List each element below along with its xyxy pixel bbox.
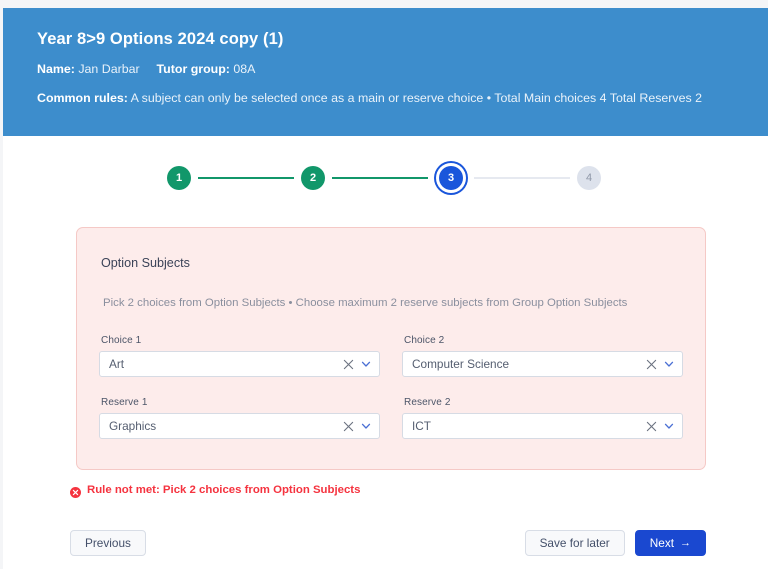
tutor-group-label: Tutor group: <box>157 62 230 76</box>
select-value-reserve-1: Graphics <box>109 419 339 433</box>
clear-icon-reserve-1[interactable] <box>339 417 357 435</box>
common-rules-label: Common rules: <box>37 91 128 105</box>
field-label-choice-2: Choice 2 <box>404 335 683 346</box>
validation-message-row: Rule not met: Pick 2 choices from Option… <box>70 484 360 496</box>
field-label-reserve-2: Reserve 2 <box>404 397 683 408</box>
next-button[interactable]: Next → <box>635 530 706 556</box>
option-card-subtitle: Pick 2 choices from Option Subjects • Ch… <box>103 297 683 309</box>
field-reserve-2: Reserve 2 ICT <box>402 397 683 439</box>
stepper-step-1[interactable]: 1 <box>167 166 191 190</box>
common-rules-value: A subject can only be selected once as a… <box>131 91 702 105</box>
page-header: Year 8>9 Options 2024 copy (1) Name: Jan… <box>3 8 768 136</box>
footer-right-actions: Save for later Next → <box>525 530 706 556</box>
error-circle-x-icon <box>70 485 81 496</box>
common-rules-line: Common rules: A subject can only be sele… <box>37 90 734 107</box>
select-choice-1[interactable]: Art <box>99 351 380 377</box>
field-choice-2: Choice 2 Computer Science <box>402 335 683 377</box>
select-value-choice-2: Computer Science <box>412 357 642 371</box>
option-subjects-card: Option Subjects Pick 2 choices from Opti… <box>76 227 706 470</box>
stepper-step-2[interactable]: 2 <box>301 166 325 190</box>
tutor-group-value: 08A <box>233 62 255 76</box>
page-title: Year 8>9 Options 2024 copy (1) <box>37 30 734 49</box>
choice-field-grid: Choice 1 Art Choice 2 Computer Science <box>99 335 683 439</box>
stepper-step-4[interactable]: 4 <box>577 166 601 190</box>
progress-stepper: 1 2 3 4 <box>0 160 768 196</box>
select-value-reserve-2: ICT <box>412 419 642 433</box>
field-label-choice-1: Choice 1 <box>101 335 380 346</box>
name-value: Jan Darbar <box>78 62 139 76</box>
name-label: Name: <box>37 62 75 76</box>
student-info-line: Name: Jan Darbar Tutor group: 08A <box>37 61 734 78</box>
validation-message-text: Rule not met: Pick 2 choices from Option… <box>87 484 360 496</box>
clear-icon-reserve-2[interactable] <box>642 417 660 435</box>
field-reserve-1: Reserve 1 Graphics <box>99 397 380 439</box>
select-reserve-1[interactable]: Graphics <box>99 413 380 439</box>
footer-actions: Previous Save for later Next → <box>70 530 706 556</box>
save-for-later-button[interactable]: Save for later <box>525 530 625 556</box>
chevron-down-icon-reserve-1[interactable] <box>357 417 375 435</box>
chevron-down-icon-reserve-2[interactable] <box>660 417 678 435</box>
chevron-down-icon-choice-2[interactable] <box>660 355 678 373</box>
select-reserve-2[interactable]: ICT <box>402 413 683 439</box>
stepper-connector-3-4 <box>474 177 570 179</box>
previous-button[interactable]: Previous <box>70 530 146 556</box>
stepper-connector-1-2 <box>198 177 294 179</box>
select-choice-2[interactable]: Computer Science <box>402 351 683 377</box>
page-gutter-top <box>0 0 768 8</box>
field-choice-1: Choice 1 Art <box>99 335 380 377</box>
option-card-title: Option Subjects <box>101 256 683 270</box>
page-root: Year 8>9 Options 2024 copy (1) Name: Jan… <box>0 0 768 569</box>
arrow-right-icon: → <box>680 537 691 549</box>
stepper-connector-2-3 <box>332 177 428 179</box>
clear-icon-choice-1[interactable] <box>339 355 357 373</box>
next-button-label: Next <box>650 536 674 550</box>
select-value-choice-1: Art <box>109 357 339 371</box>
field-label-reserve-1: Reserve 1 <box>101 397 380 408</box>
clear-icon-choice-2[interactable] <box>642 355 660 373</box>
stepper-step-3[interactable]: 3 <box>439 166 463 190</box>
chevron-down-icon-choice-1[interactable] <box>357 355 375 373</box>
